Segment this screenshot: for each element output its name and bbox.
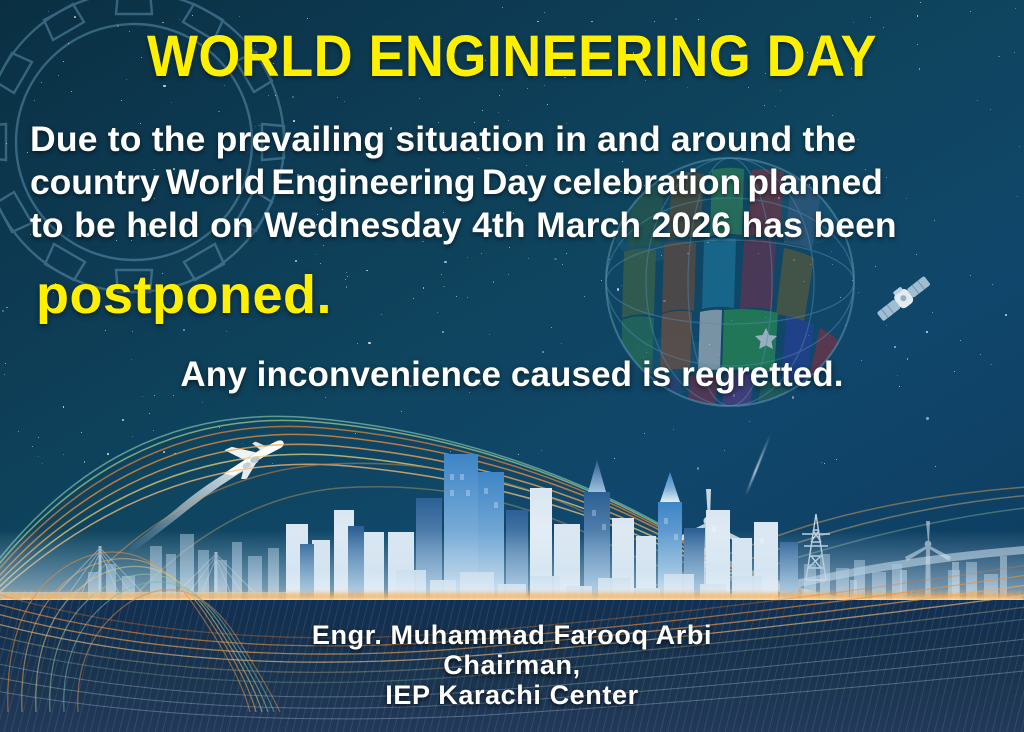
signatory-role: Chairman, — [0, 650, 1024, 680]
notice-line-1: Due to the prevailing situation in and a… — [30, 118, 996, 161]
notice-line-2: country World Engineering Day celebratio… — [30, 161, 996, 204]
page-title: WORLD ENGINEERING DAY — [36, 28, 988, 86]
signatory-name: Engr. Muhammad Farooq Arbi — [0, 620, 1024, 650]
signature-block: Engr. Muhammad Farooq Arbi Chairman, IEP… — [0, 620, 1024, 711]
world-engineering-day-poster: WORLD ENGINEERING DAY Due to the prevail… — [0, 0, 1024, 732]
postponed-emphasis: postponed. — [36, 268, 332, 322]
notice-text: Due to the prevailing situation in and a… — [30, 118, 996, 247]
notice-line-3: to be held on Wednesday 4th March 2026 h… — [30, 204, 996, 247]
apology-text: Any inconvenience caused is regretted. — [0, 357, 1024, 392]
signatory-organization: IEP Karachi Center — [0, 680, 1024, 710]
poster-copy: WORLD ENGINEERING DAY Due to the prevail… — [0, 0, 1024, 732]
